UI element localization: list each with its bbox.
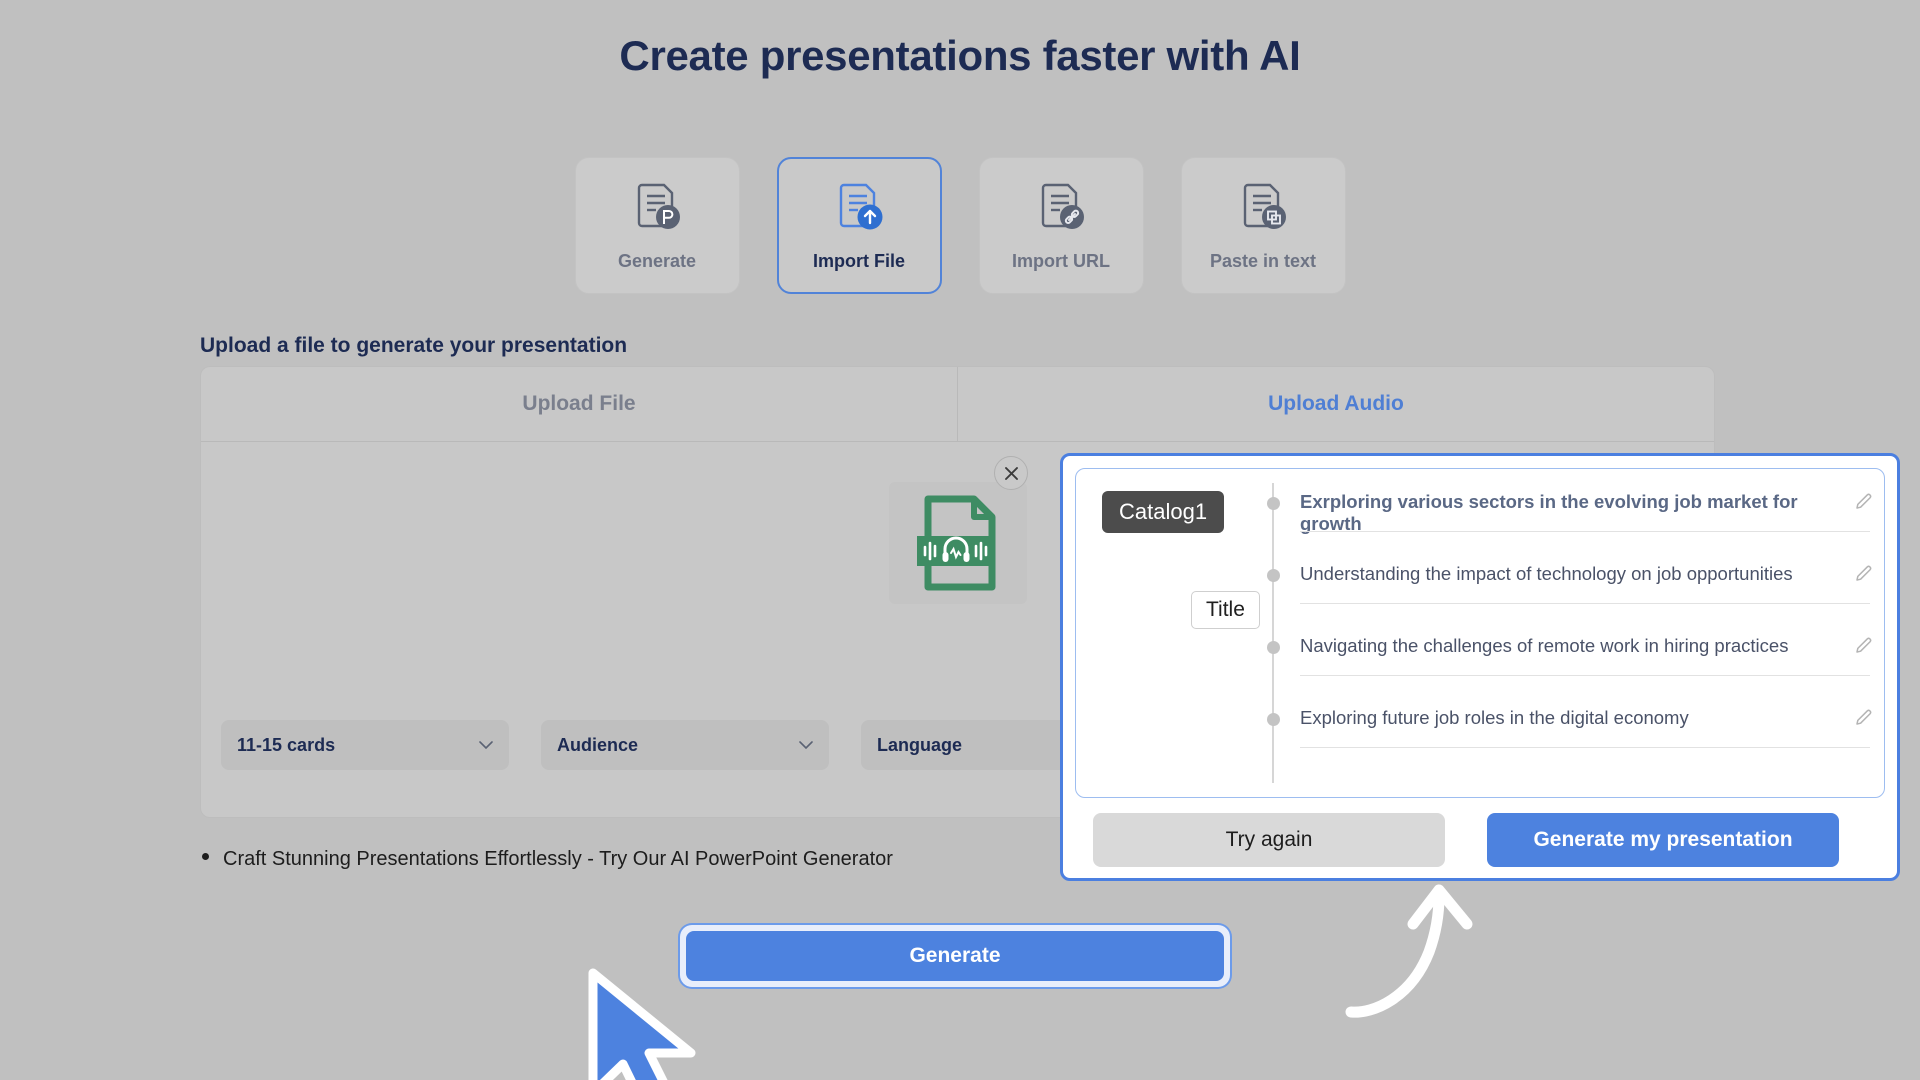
outline-item-dot-icon (1267, 497, 1280, 510)
outline-items-list: Exrploring various sectors in the evolvi… (1274, 469, 1884, 797)
pencil-icon[interactable] (1854, 563, 1874, 583)
document-copy-icon (1234, 179, 1292, 237)
outline-item-dot-icon (1267, 569, 1280, 582)
mode-tab-group: Generate Import File (0, 157, 1920, 294)
outline-item-dot-icon (1267, 641, 1280, 654)
outline-item-text: Exrploring various sectors in the evolvi… (1300, 483, 1854, 535)
generation-options-row: 11-15 cards Audience Language (221, 720, 1149, 770)
mode-card-import-file[interactable]: Import File (777, 157, 942, 294)
close-icon (1003, 465, 1020, 482)
document-link-icon (1032, 179, 1090, 237)
pencil-icon[interactable] (1854, 707, 1874, 727)
pencil-icon[interactable] (1854, 635, 1874, 655)
audio-file-icon (912, 493, 1004, 593)
outline-labels-column: Catalog1 Title (1076, 469, 1272, 797)
select-audience[interactable]: Audience (541, 720, 829, 770)
document-upload-icon (830, 179, 888, 237)
try-again-button[interactable]: Try again (1093, 813, 1445, 867)
page-title: Create presentations faster with AI (0, 32, 1920, 80)
outline-item[interactable]: Understanding the impact of technology o… (1274, 555, 1884, 627)
generate-button-highlight: Generate (680, 925, 1230, 987)
uploaded-file-thumbnail (889, 482, 1027, 604)
outline-item[interactable]: Exploring future job roles in the digita… (1274, 699, 1884, 771)
select-card-count[interactable]: 11-15 cards (221, 720, 509, 770)
outline-item[interactable]: Exrploring various sectors in the evolvi… (1274, 483, 1884, 555)
generate-my-presentation-button[interactable]: Generate my presentation (1487, 813, 1839, 867)
bullet-dot-icon (202, 853, 209, 860)
outline-preview-popup: Catalog1 Title Exrploring various sector… (1060, 453, 1900, 881)
popup-action-row: Try again Generate my presentation (1075, 813, 1885, 867)
select-card-count-value: 11-15 cards (237, 735, 335, 756)
outline-item-underline (1300, 531, 1870, 532)
title-badge: Title (1191, 591, 1260, 629)
mode-card-paste-in-text[interactable]: Paste in text (1181, 157, 1346, 294)
outline-item[interactable]: Navigating the challenges of remote work… (1274, 627, 1884, 699)
select-language-value: Language (877, 735, 962, 756)
tab-upload-file[interactable]: Upload File (201, 367, 958, 441)
app-root: Create presentations faster with AI Gene… (0, 0, 1920, 1080)
mode-card-label: Paste in text (1210, 251, 1316, 272)
mode-card-label: Import File (813, 251, 905, 272)
section-heading: Upload a file to generate your presentat… (200, 334, 627, 358)
outline-item-underline (1300, 675, 1870, 676)
catalog-badge: Catalog1 (1102, 491, 1224, 533)
marketing-bullet: Craft Stunning Presentations Effortlessl… (202, 848, 893, 871)
upload-tab-group: Upload File Upload Audio (201, 367, 1714, 442)
mode-card-generate[interactable]: Generate (575, 157, 740, 294)
outline-item-text: Exploring future job roles in the digita… (1300, 699, 1854, 729)
chevron-down-icon (799, 741, 813, 749)
chevron-down-icon (479, 741, 493, 749)
remove-file-button[interactable] (994, 456, 1028, 490)
outline-card: Catalog1 Title Exrploring various sector… (1075, 468, 1885, 798)
outline-item-text: Navigating the challenges of remote work… (1300, 627, 1854, 657)
generate-button[interactable]: Generate (686, 931, 1224, 981)
curved-arrow-icon (1345, 880, 1505, 1020)
select-audience-value: Audience (557, 735, 638, 756)
pencil-icon[interactable] (1854, 491, 1874, 511)
outline-item-underline (1300, 603, 1870, 604)
document-powerpoint-icon (628, 179, 686, 237)
mode-card-import-url[interactable]: Import URL (979, 157, 1144, 294)
marketing-bullet-text: Craft Stunning Presentations Effortlessl… (223, 848, 893, 871)
mode-card-label: Import URL (1012, 251, 1110, 272)
tab-upload-audio[interactable]: Upload Audio (958, 367, 1714, 441)
outline-item-underline (1300, 747, 1870, 748)
outline-item-dot-icon (1267, 713, 1280, 726)
outline-item-text: Understanding the impact of technology o… (1300, 555, 1854, 585)
mode-card-label: Generate (618, 251, 696, 272)
